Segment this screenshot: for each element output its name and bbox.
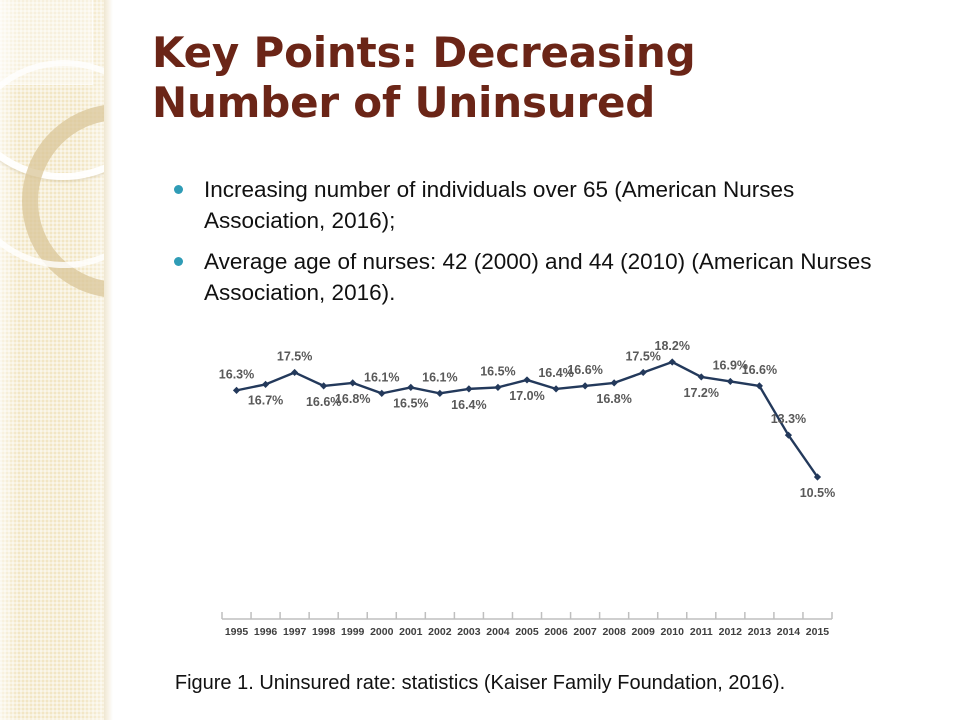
chart-x-tick-label: 2010 [661, 626, 685, 638]
chart-svg: 1995199619971998199920002001200220032004… [180, 322, 860, 652]
chart-data-label: 17.5% [277, 349, 312, 363]
chart-data-label: 16.6% [742, 363, 777, 377]
decorative-band-edge-outer [113, 0, 116, 720]
chart-data-label: 16.6% [567, 363, 602, 377]
slide-canvas: Key Points: Decreasing Number of Uninsur… [0, 0, 960, 720]
chart-data-point [349, 379, 356, 386]
chart-x-tick-label: 2005 [515, 626, 539, 638]
chart-x-tick-label: 2008 [602, 626, 626, 638]
bullet-dot-icon [174, 257, 183, 266]
chart-x-tick-label: 2003 [457, 626, 481, 638]
chart-data-point [581, 382, 588, 389]
chart-data-label: 16.3% [219, 367, 254, 381]
chart-data-point [233, 387, 240, 394]
decorative-band-edge [104, 0, 113, 720]
chart-data-label: 10.5% [800, 486, 835, 500]
chart-x-tick-label: 1997 [283, 626, 307, 638]
decorative-corner-patch [0, 0, 93, 85]
figure-caption: Figure 1. Uninsured rate: statistics (Ka… [0, 672, 960, 695]
chart-x-tick-label: 1998 [312, 626, 336, 638]
chart-x-tick-label: 2001 [399, 626, 423, 638]
chart-data-point [494, 384, 501, 391]
chart-data-point [727, 378, 734, 385]
uninsured-rate-line-chart: 1995199619971998199920002001200220032004… [180, 322, 860, 652]
chart-data-label: 16.1% [364, 370, 399, 384]
chart-x-tick-label: 2015 [806, 626, 830, 638]
chart-data-point [465, 385, 472, 392]
chart-x-tick-label: 2004 [486, 626, 510, 638]
slide-title-line-1: Key Points: Decreasing [152, 28, 852, 78]
slide-title: Key Points: Decreasing Number of Uninsur… [152, 28, 852, 128]
list-item: Increasing number of individuals over 65… [166, 174, 896, 236]
chart-data-label: 16.8% [596, 392, 631, 406]
chart-x-tick-label: 2002 [428, 626, 452, 638]
slide-title-line-2: Number of Uninsured [152, 78, 852, 128]
chart-x-tick-label: 2013 [748, 626, 772, 638]
chart-data-point [291, 369, 298, 376]
bullet-dot-icon [174, 185, 183, 194]
chart-data-point [640, 369, 647, 376]
chart-x-tick-label: 2014 [777, 626, 801, 638]
chart-data-point [523, 376, 530, 383]
chart-data-label: 16.5% [393, 396, 428, 410]
chart-data-point [611, 379, 618, 386]
chart-x-tick-label: 2012 [719, 626, 743, 638]
chart-data-point [407, 384, 414, 391]
chart-data-label: 18.2% [655, 339, 690, 353]
bullet-text: Average age of nurses: 42 (2000) and 44 … [204, 249, 871, 305]
bullet-list: Increasing number of individuals over 65… [166, 174, 896, 318]
chart-x-tick-label: 2009 [632, 626, 656, 638]
chart-data-point [552, 385, 559, 392]
chart-x-tick-label: 2000 [370, 626, 394, 638]
bullet-text: Increasing number of individuals over 65… [204, 177, 794, 233]
list-item: Average age of nurses: 42 (2000) and 44 … [166, 246, 896, 308]
chart-x-tick-label: 1995 [225, 626, 249, 638]
chart-data-point [378, 390, 385, 397]
chart-data-label: 17.0% [509, 389, 544, 403]
chart-data-label: 16.7% [248, 393, 283, 407]
chart-x-tick-label: 2011 [690, 626, 713, 638]
chart-data-label: 13.3% [771, 412, 806, 426]
chart-data-point [262, 381, 269, 388]
chart-data-label: 16.8% [335, 392, 370, 406]
chart-data-point [436, 390, 443, 397]
decorative-side-band [0, 0, 104, 720]
chart-data-label: 17.2% [684, 386, 719, 400]
chart-data-label: 16.5% [480, 364, 515, 378]
chart-x-tick-label: 1999 [341, 626, 365, 638]
chart-x-tick-label: 1996 [254, 626, 278, 638]
chart-data-label: 16.1% [422, 370, 457, 384]
chart-x-tick-label: 2006 [544, 626, 568, 638]
chart-data-label: 16.4% [451, 398, 486, 412]
decorative-ring-light-lower-icon [0, 60, 104, 268]
chart-data-point [320, 382, 327, 389]
chart-x-tick-label: 2007 [573, 626, 597, 638]
